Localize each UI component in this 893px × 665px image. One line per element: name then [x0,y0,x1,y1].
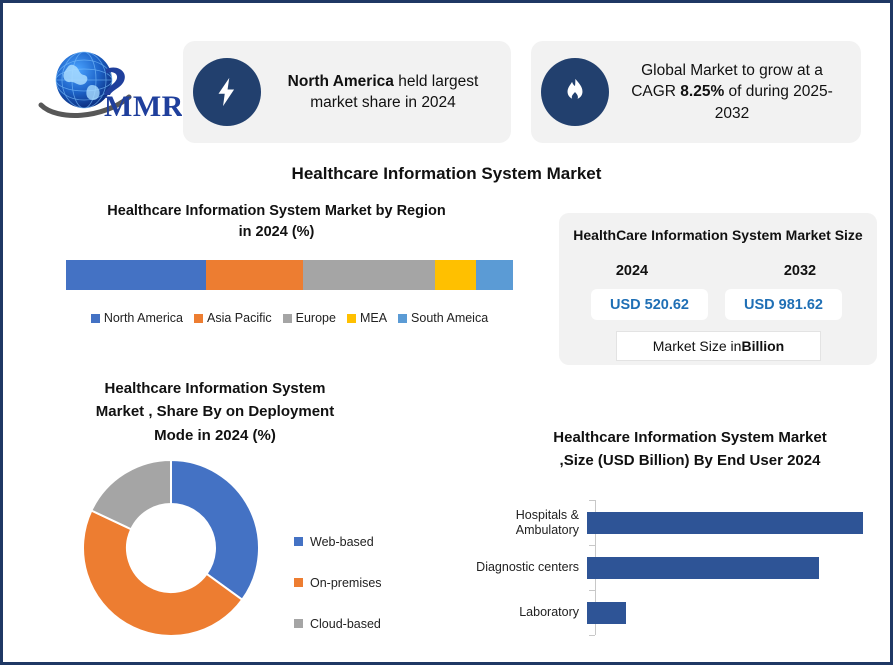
region-legend-item: South Ameica [398,311,488,325]
svg-text:MMR: MMR [104,90,182,123]
header-card-na-bold: North America [288,73,394,90]
region-segment [476,260,513,290]
globe-swoosh-logo: MMR [37,47,182,125]
deployment-chart-title-line2: Market , Share By on Deployment [55,400,375,423]
region-legend-label: North America [104,311,183,325]
region-chart-legend: North AmericaAsia PacificEuropeMEASouth … [66,311,513,325]
enduser-bar [587,557,819,579]
region-legend-item: Asia Pacific [194,311,272,325]
market-size-year-2024: 2024 [587,263,677,279]
region-segment [435,260,476,290]
enduser-bar-row: Diagnostic centers [451,545,871,590]
header-card-cagr-bold: 8.25% [680,83,724,100]
region-chart-title-line2: in 2024 (%) [49,222,504,243]
header-card-north-america-text: North America held largest market share … [269,71,497,114]
enduser-bar-track [587,500,871,545]
region-segment [66,260,206,290]
legend-swatch-icon [294,619,303,628]
deployment-chart-title: Healthcare Information System Market , S… [55,377,375,447]
deployment-legend-label: On-premises [310,576,382,590]
region-legend-label: MEA [360,311,387,325]
legend-swatch-icon [294,578,303,587]
enduser-axis-tick [589,635,595,636]
legend-swatch-icon [283,314,292,323]
region-legend-item: Europe [283,311,336,325]
region-segment [303,260,435,290]
market-size-panel: HealthCare Information System Market Siz… [559,213,877,365]
region-legend-item: MEA [347,311,387,325]
market-size-unit-pre: Market Size in [653,338,742,354]
region-chart-title-line1: Healthcare Information System Market by … [49,201,504,222]
enduser-chart-title-line1: Healthcare Information System Market [500,427,880,450]
enduser-axis-tick [589,500,595,501]
deployment-legend-label: Cloud-based [310,617,381,631]
region-stacked-bar [66,260,513,290]
enduser-category-label: Laboratory [451,605,587,620]
flame-icon [541,58,609,126]
enduser-bar-row: Hospitals &Ambulatory [451,500,871,545]
legend-swatch-icon [347,314,356,323]
page-title: Healthcare Information System Market [3,164,890,184]
enduser-category-label: Diagnostic centers [451,560,587,575]
mmr-logo: MMR [37,47,182,125]
region-legend-label: Asia Pacific [207,311,272,325]
region-legend-item: North America [91,311,183,325]
enduser-bar [587,602,626,624]
lightning-bolt-icon [193,58,261,126]
region-legend-label: Europe [296,311,336,325]
legend-swatch-icon [398,314,407,323]
enduser-chart-title: Healthcare Information System Market ,Si… [500,427,880,472]
region-legend-label: South Ameica [411,311,488,325]
deployment-donut-chart [81,458,261,638]
deployment-legend-label: Web-based [310,535,374,549]
market-size-value-2024: USD 520.62 [591,289,708,320]
enduser-bar-track [587,590,871,635]
enduser-axis-tick [589,590,595,591]
deployment-chart-title-line3: Mode in 2024 (%) [55,424,375,447]
deployment-legend-item: Cloud-based [294,603,382,644]
deployment-chart-legend: Web-basedOn-premisesCloud-based [294,521,382,644]
header-card-north-america: North America held largest market share … [183,41,511,143]
deployment-chart-title-line1: Healthcare Information System [55,377,375,400]
region-segment [206,260,303,290]
header-card-cagr-post: of during 2025-2032 [715,83,833,121]
market-size-year-2032: 2032 [755,263,845,279]
header-card-cagr: Global Market to grow at a CAGR 8.25% of… [531,41,861,143]
enduser-bar-row: Laboratory [451,590,871,635]
region-chart-title: Healthcare Information System Market by … [49,201,504,242]
enduser-bar [587,512,863,534]
enduser-category-label-line: Hospitals & [451,508,579,523]
legend-swatch-icon [294,537,303,546]
enduser-category-label-line: Laboratory [451,605,579,620]
deployment-legend-item: On-premises [294,562,382,603]
deployment-legend-item: Web-based [294,521,382,562]
enduser-axis-tick [589,545,595,546]
enduser-category-label-line: Diagnostic centers [451,560,579,575]
enduser-category-label: Hospitals &Ambulatory [451,508,587,538]
market-size-unit-box: Market Size in Billion [616,331,821,361]
enduser-chart-title-line2: ,Size (USD Billion) By End User 2024 [500,450,880,473]
enduser-bar-track [587,545,871,590]
legend-swatch-icon [91,314,100,323]
enduser-bar-chart: Hospitals &AmbulatoryDiagnostic centersL… [451,500,871,635]
legend-swatch-icon [194,314,203,323]
market-size-value-2032: USD 981.62 [725,289,842,320]
header-card-cagr-text: Global Market to grow at a CAGR 8.25% of… [617,60,847,124]
market-size-unit-bold: Billion [741,338,784,354]
market-size-panel-title: HealthCare Information System Market Siz… [559,226,877,244]
infographic-canvas: MMR North America held largest market sh… [0,0,893,665]
enduser-category-label-line: Ambulatory [451,523,579,538]
